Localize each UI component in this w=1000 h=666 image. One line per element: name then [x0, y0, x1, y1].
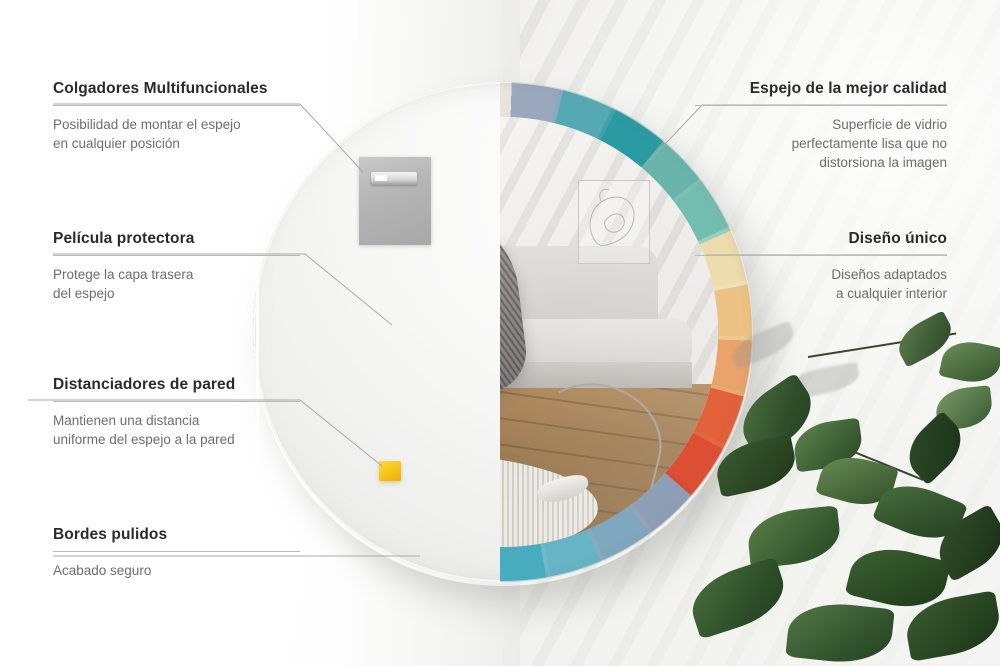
callout-protective-film: Película protectora Protege la capa tras… — [53, 230, 300, 303]
reflected-wall-art — [578, 180, 650, 264]
callout-rule — [53, 105, 300, 106]
callout-desc: Protege la capa trasera del espejo — [53, 265, 300, 303]
callout-title: Distanciadores de pared — [53, 376, 300, 394]
callout-unique-design: Diseño único Diseños adaptados a cualqui… — [695, 230, 947, 303]
callout-best-quality-mirror: Espejo de la mejor calidad Superficie de… — [695, 80, 947, 172]
callout-desc: Diseños adaptados a cualquier interior — [695, 265, 947, 303]
mirror-product — [243, 72, 763, 592]
callout-desc: Superficie de vidrio perfectamente lisa … — [695, 115, 947, 172]
callout-title: Colgadores Multifuncionales — [53, 80, 300, 98]
callout-desc: Posibilidad de montar el espejo en cualq… — [53, 115, 300, 153]
callout-title: Película protectora — [53, 230, 300, 248]
callout-multifunctional-hangers: Colgadores Multifuncionales Posibilidad … — [53, 80, 300, 153]
multifunctional-hanger-icon — [371, 172, 417, 185]
callout-polished-edges: Bordes pulidos Acabado seguro — [53, 526, 300, 580]
callout-rule — [53, 255, 300, 256]
foliage-decoration — [690, 330, 1000, 666]
callout-rule — [695, 105, 947, 106]
yellow-spacer — [379, 461, 401, 481]
callout-title: Diseño único — [695, 230, 947, 248]
callout-desc: Acabado seguro — [53, 561, 300, 580]
callout-rule — [695, 255, 947, 256]
hanger-plate — [359, 157, 431, 245]
callout-desc: Mantienen una distancia uniforme del esp… — [53, 411, 300, 449]
callout-rule — [53, 401, 300, 402]
callout-wall-spacers: Distanciadores de pared Mantienen una di… — [53, 376, 300, 449]
callout-rule — [53, 551, 300, 552]
callout-title: Bordes pulidos — [53, 526, 300, 544]
infographic-canvas: Colgadores Multifuncionales Posibilidad … — [0, 0, 1000, 666]
callout-title: Espejo de la mejor calidad — [695, 80, 947, 98]
